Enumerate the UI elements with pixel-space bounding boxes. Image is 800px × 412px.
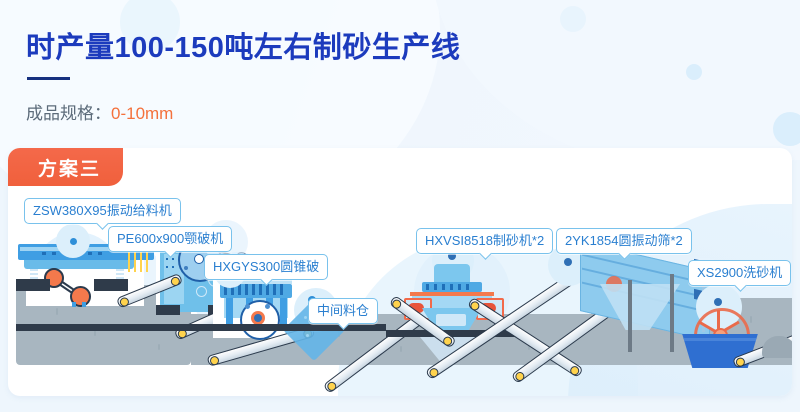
spec-label: 成品规格： bbox=[26, 104, 111, 123]
header-decor-dot bbox=[560, 6, 586, 32]
header-decor-dot bbox=[773, 112, 800, 146]
label-sand-maker[interactable]: HXVSI8518制砂机*2 bbox=[416, 228, 553, 254]
label-vibrating-screen[interactable]: 2YK1854圆振动筛*2 bbox=[556, 228, 692, 254]
feeder-body bbox=[24, 260, 134, 269]
label-jaw-crusher[interactable]: PE600x900颚破机 bbox=[108, 226, 232, 252]
screen-support-post bbox=[628, 280, 632, 352]
feeder-plinth-left bbox=[16, 279, 50, 291]
label-text: HXVSI8518制砂机*2 bbox=[425, 233, 544, 248]
infographic-page: 时产量100-150吨左右制砂生产线 成品规格：0-10mm 方案三 bbox=[0, 0, 800, 412]
spec-line: 成品规格：0-10mm bbox=[26, 99, 173, 124]
label-cone-crusher[interactable]: HXGYS300圆锥破 bbox=[204, 254, 328, 280]
production-line-illustration: ZSW380X95振动给料机 PE600x900颚破机 HXGYS300圆锥破 … bbox=[8, 148, 792, 396]
cone-leg bbox=[280, 298, 287, 324]
washer-node-dot bbox=[714, 298, 722, 306]
cone-leg bbox=[226, 298, 233, 324]
feeder-plinth-right bbox=[94, 279, 128, 291]
header-decor-dot bbox=[686, 64, 702, 80]
label-text: ZSW380X95振动给料机 bbox=[33, 203, 172, 218]
label-surge-bin[interactable]: 中间料仓 bbox=[308, 298, 378, 324]
jaw-plinth-left bbox=[156, 305, 180, 315]
header-decor-curve-right bbox=[430, 0, 800, 170]
silo-support-beam bbox=[254, 324, 386, 331]
title-divider bbox=[27, 77, 70, 80]
feeder-node-dot bbox=[70, 238, 77, 245]
label-caret bbox=[96, 217, 109, 230]
page-title: 时产量100-150吨左右制砂生产线 bbox=[26, 24, 460, 66]
cone-support-beam bbox=[16, 324, 254, 331]
spec-value: 0-10mm bbox=[111, 104, 173, 123]
label-sand-washer[interactable]: XS2900洗砂机 bbox=[688, 260, 791, 286]
screen-node-dot bbox=[564, 258, 572, 266]
sand-stockpile bbox=[762, 336, 792, 358]
screen-support-post bbox=[670, 274, 674, 352]
label-vibrating-feeder[interactable]: ZSW380X95振动给料机 bbox=[24, 198, 181, 224]
label-text: XS2900洗砂机 bbox=[697, 265, 782, 280]
scheme-card: 方案三 bbox=[8, 148, 792, 396]
